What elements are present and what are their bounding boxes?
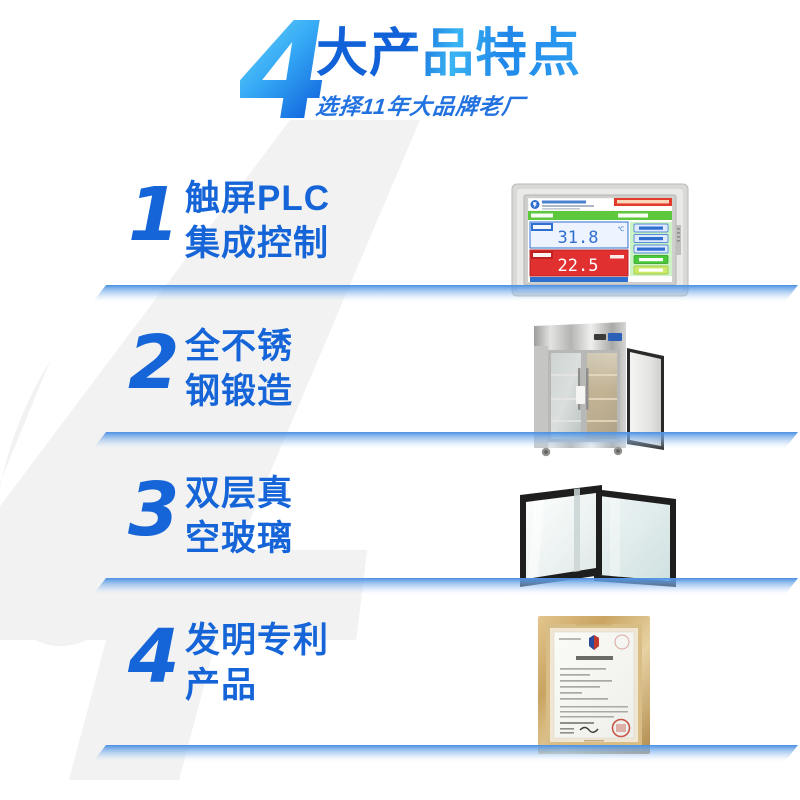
- feature-line2-2: 钢锻造: [185, 369, 293, 414]
- invention-patent-certificate-image: [490, 612, 710, 757]
- page-title: 大产品特点: [316, 25, 581, 83]
- feature-line1-1: 触屏PLC: [185, 176, 330, 221]
- svg-text:31.8: 31.8: [558, 228, 599, 248]
- feature-number-3: 3: [128, 473, 178, 547]
- svg-text:℃: ℃: [618, 226, 625, 233]
- feature-line2-4: 产品: [185, 663, 329, 708]
- header-title-block: 大产品特点 选择11年大品牌老厂: [316, 25, 581, 121]
- feature-text-2: 全不锈 钢锻造: [185, 324, 293, 414]
- feature-text-4: 发明专利 产品: [185, 618, 329, 708]
- feature-line1-2: 全不锈: [185, 324, 293, 369]
- product-features-poster: 大产品特点 选择11年大品牌老厂 1 触屏PLC 集成控制: [0, 0, 800, 800]
- feature-line2-1: 集成控制: [185, 221, 330, 266]
- poster-header: 大产品特点 选择11年大品牌老厂: [0, 0, 800, 140]
- feature-number-2: 2: [128, 326, 178, 400]
- divider-2: [92, 432, 798, 450]
- feature-number-4: 4: [128, 620, 178, 694]
- feature-row-4: 4 发明专利 产品: [0, 612, 800, 757]
- divider-4: [92, 745, 798, 763]
- feature-number-1: 1: [128, 178, 178, 252]
- feature-text-3: 双层真 空玻璃: [185, 471, 293, 561]
- feature-text-1: 触屏PLC 集成控制: [185, 176, 330, 266]
- feature-line2-3: 空玻璃: [185, 516, 293, 561]
- feature-line1-3: 双层真: [185, 471, 293, 516]
- divider-3: [92, 578, 798, 596]
- divider-1: [92, 285, 798, 303]
- feature-line1-4: 发明专利: [185, 618, 329, 663]
- page-subtitle: 选择11年大品牌老厂: [314, 89, 582, 121]
- svg-text:22.5: 22.5: [558, 256, 599, 276]
